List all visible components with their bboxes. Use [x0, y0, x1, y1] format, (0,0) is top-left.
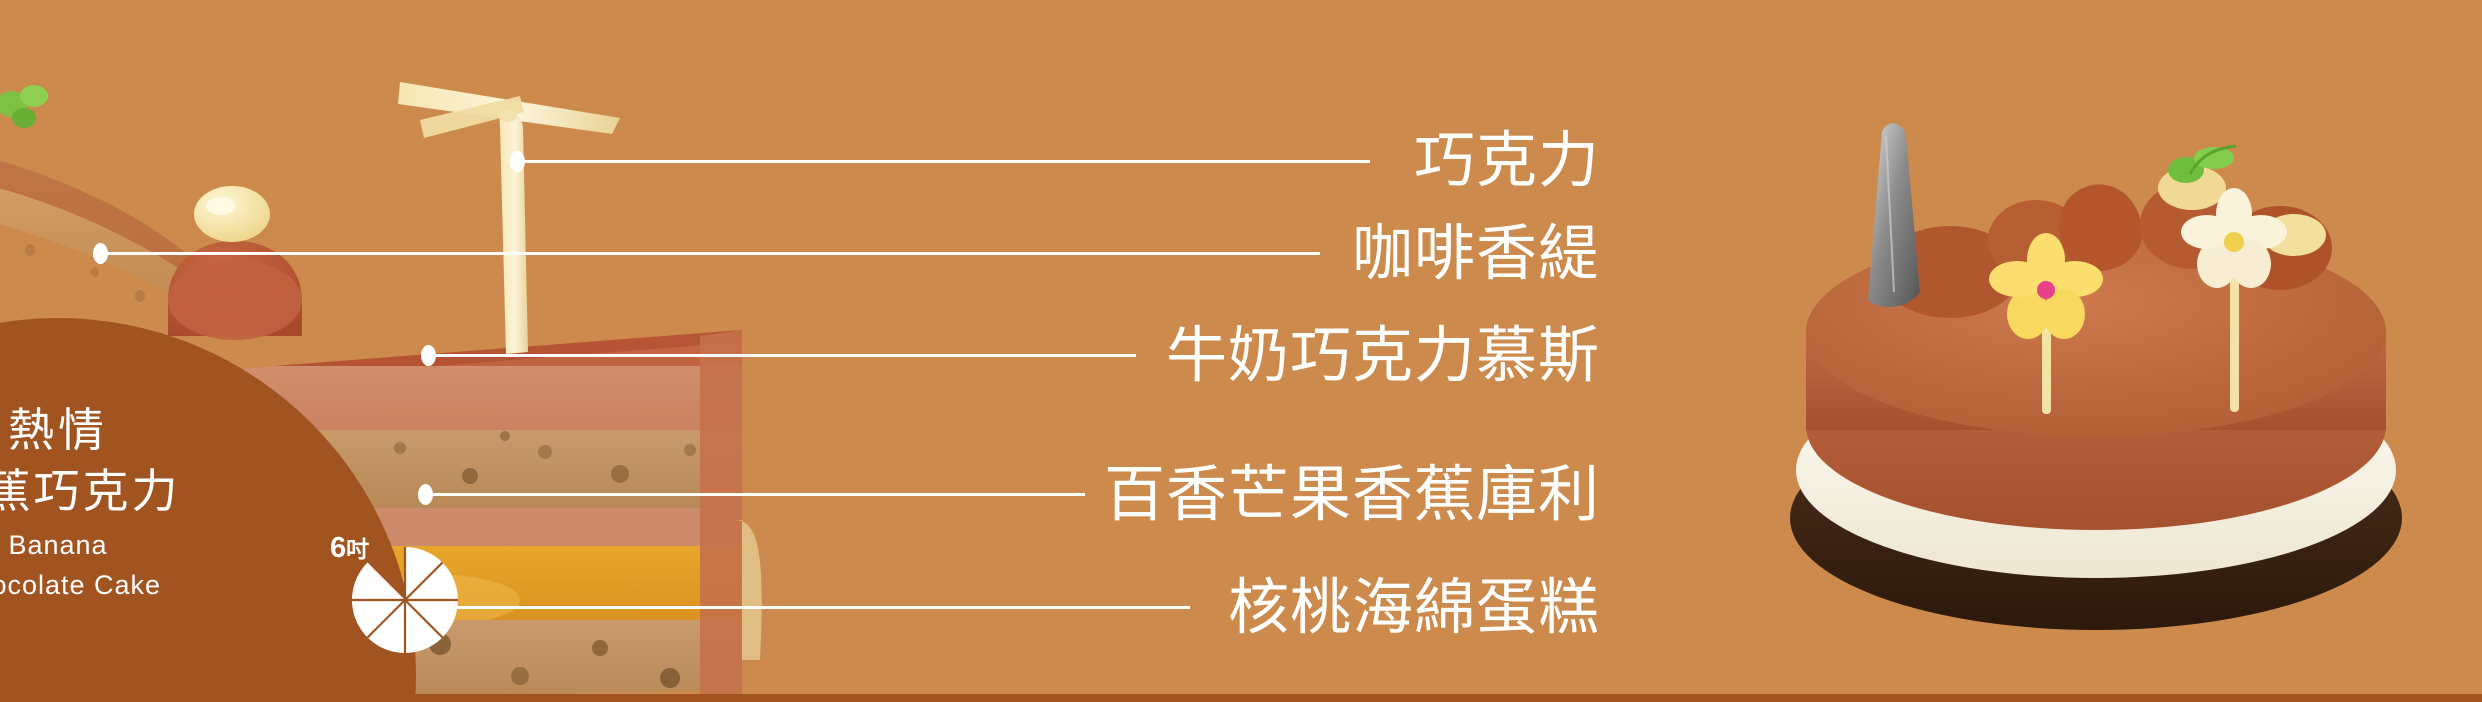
product-title-line2: 香蕉巧克力	[0, 460, 416, 522]
pie-slices-icon	[352, 547, 458, 653]
layer-label-walnut-sponge-cake: 核桃海綿蛋糕	[1228, 577, 1600, 638]
white-chocolate-decor	[398, 82, 620, 354]
layer-label-passionfruit-mango-banana-coulis: 百香芒果香蕉庫利	[1104, 464, 1600, 525]
leader-line-2	[108, 252, 1320, 255]
mousse-dome	[168, 186, 302, 340]
herb-sprig	[0, 85, 48, 128]
leader-dot-3	[421, 345, 436, 366]
layer-label-chocolate: 巧克力	[1414, 130, 1600, 191]
whole-cake-image	[1760, 40, 2440, 680]
leader-dot-2	[93, 243, 108, 264]
leader-line-1	[525, 160, 1370, 163]
layer-label-milk-chocolate-mousse: 牛奶巧克力慕斯	[1166, 325, 1600, 386]
bottom-trim-strip	[0, 694, 2482, 702]
product-banner: 巧克力 咖啡香緹 牛奶巧克力慕斯 百香芒果香蕉庫利 核桃海綿蛋糕 熱情 香蕉巧克…	[0, 0, 2482, 702]
leader-dot-4	[418, 484, 433, 505]
leader-line-4	[433, 493, 1085, 496]
size-value: 6	[330, 532, 346, 564]
layer-label-coffee-chantilly: 咖啡香緹	[1352, 223, 1600, 284]
leader-dot-1	[510, 151, 525, 172]
leader-line-3	[436, 354, 1136, 357]
leader-line-5	[435, 606, 1190, 609]
product-title-line1: 熱情	[0, 400, 416, 460]
